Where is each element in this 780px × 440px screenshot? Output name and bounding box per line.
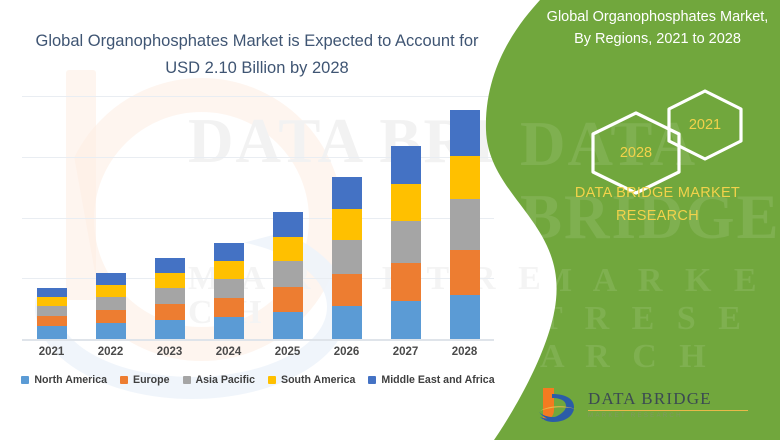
legend-swatch-icon (368, 376, 376, 384)
bar-slot (140, 96, 199, 339)
bar-segment (391, 301, 421, 339)
bar-slot (317, 96, 376, 339)
bar-segment (214, 243, 244, 261)
stacked-bar[interactable] (332, 177, 362, 339)
legend-label: South America (281, 374, 355, 386)
stacked-bar[interactable] (155, 258, 185, 339)
company-logo: DATA BRIDGE MARKET RESEARCH (536, 386, 751, 430)
infographic-root: DATA BRIDGE M A R K E T R E S E A R C H … (0, 0, 780, 440)
stacked-bar[interactable] (450, 110, 480, 339)
legend-item[interactable]: Middle East and Africa (368, 374, 494, 386)
bar-segment (391, 221, 421, 263)
bar-slot (199, 96, 258, 339)
bar-segment (96, 273, 126, 285)
bar-segment (96, 285, 126, 297)
bar-segment (391, 146, 421, 184)
legend-swatch-icon (21, 376, 29, 384)
logo-name: DATA BRIDGE (588, 390, 712, 409)
bar-slot (22, 96, 81, 339)
bar-segment (155, 273, 185, 288)
x-axis-tick-2024: 2024 (199, 346, 258, 358)
stacked-bar[interactable] (214, 243, 244, 339)
stacked-bar[interactable] (96, 273, 126, 339)
x-axis-tick-2025: 2025 (258, 346, 317, 358)
bar-segment (332, 177, 362, 209)
bar-segment (332, 274, 362, 306)
panel-brand-text: DATA BRIDGE MARKET RESEARCH (545, 182, 770, 228)
bar-segment (450, 156, 480, 199)
legend-item[interactable]: Asia Pacific (183, 374, 255, 386)
x-axis-labels: 20212022202320242025202620272028 (22, 346, 494, 358)
logo-tagline: MARKET RESEARCH (588, 412, 712, 419)
legend-label: North America (34, 374, 107, 386)
bar-segment (155, 304, 185, 320)
stacked-bar[interactable] (273, 212, 303, 339)
bar-segment (332, 240, 362, 274)
legend-swatch-icon (183, 376, 191, 384)
chart-legend: North AmericaEuropeAsia PacificSouth Ame… (22, 374, 494, 386)
stacked-bars (22, 96, 494, 339)
bar-segment (332, 209, 362, 240)
bar-segment (450, 295, 480, 339)
bar-segment (37, 288, 67, 297)
bar-segment (214, 279, 244, 298)
bar-segment (96, 323, 126, 339)
logo-underline (588, 410, 748, 411)
x-axis-tick-2028: 2028 (435, 346, 494, 358)
bar-slot (435, 96, 494, 339)
x-axis-tick-2027: 2027 (376, 346, 435, 358)
legend-item[interactable]: South America (268, 374, 355, 386)
bar-segment (332, 306, 362, 339)
bar-segment (155, 320, 185, 339)
bar-segment (273, 237, 303, 261)
hexagon-group: 2021 2028 (588, 88, 758, 178)
bar-segment (155, 258, 185, 273)
bar-segment (214, 317, 244, 339)
bar-segment (273, 312, 303, 339)
legend-label: Middle East and Africa (381, 374, 494, 386)
stacked-bar[interactable] (37, 288, 67, 339)
x-axis-tick-2023: 2023 (140, 346, 199, 358)
chart-title: Global Organophosphates Market is Expect… (18, 28, 496, 81)
bar-segment (273, 261, 303, 287)
bar-segment (450, 199, 480, 250)
x-axis-tick-2022: 2022 (81, 346, 140, 358)
bar-segment (273, 287, 303, 312)
data-bridge-logo-icon (536, 386, 582, 430)
x-axis-tick-2026: 2026 (317, 346, 376, 358)
bar-segment (96, 297, 126, 310)
bar-slot (81, 96, 140, 339)
legend-swatch-icon (268, 376, 276, 384)
stacked-bar[interactable] (391, 146, 421, 339)
x-axis-line (22, 339, 494, 341)
bar-segment (450, 110, 480, 156)
legend-swatch-icon (120, 376, 128, 384)
chart-plot-area (22, 96, 494, 341)
bar-segment (391, 263, 421, 301)
panel-title: Global Organophosphates Market, By Regio… (545, 6, 770, 51)
bar-slot (258, 96, 317, 339)
bar-segment (37, 316, 67, 326)
logo-text: DATA BRIDGE MARKET RESEARCH (588, 390, 712, 419)
bar-segment (37, 306, 67, 316)
bar-segment (214, 261, 244, 279)
bar-segment (391, 184, 421, 221)
legend-item[interactable]: North America (21, 374, 107, 386)
bar-slot (376, 96, 435, 339)
x-axis-tick-2021: 2021 (22, 346, 81, 358)
bar-segment (37, 297, 67, 306)
bar-segment (450, 250, 480, 295)
bar-segment (96, 310, 126, 323)
bar-segment (37, 326, 67, 339)
bar-segment (273, 212, 303, 237)
legend-label: Asia Pacific (196, 374, 255, 386)
bar-segment (155, 288, 185, 304)
legend-item[interactable]: Europe (120, 374, 170, 386)
bar-segment (214, 298, 244, 317)
legend-label: Europe (133, 374, 170, 386)
